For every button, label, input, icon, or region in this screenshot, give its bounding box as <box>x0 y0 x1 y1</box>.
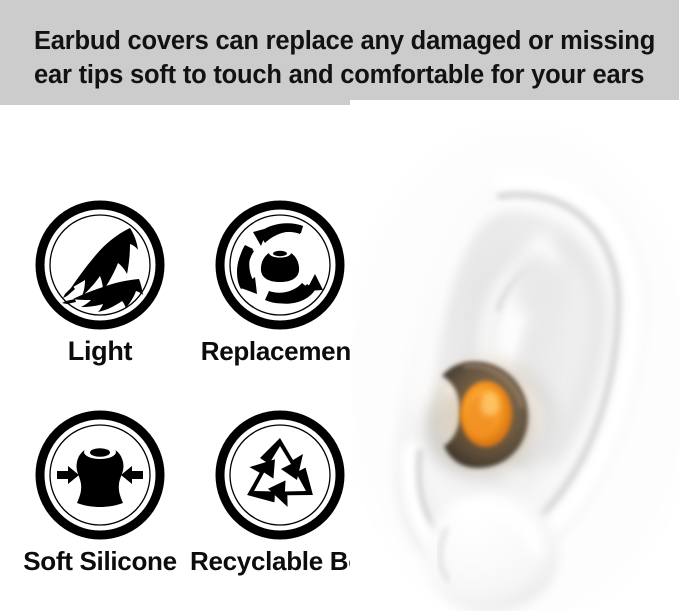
ear-with-earbud-tip <box>350 100 679 611</box>
header-line-1: Earbud covers can replace any damaged or… <box>34 24 649 58</box>
replacement-cycle-icon <box>215 200 345 330</box>
feature-item-soft-silicone: Soft Silicone <box>10 410 190 577</box>
compress-eartip-icon <box>35 410 165 540</box>
feature-item-recyclable-box: Recyclable Box <box>190 410 370 577</box>
header-text: Earbud covers can replace any damaged or… <box>34 24 649 92</box>
ear-render <box>350 100 679 611</box>
infographic-canvas: Earbud covers can replace any damaged or… <box>0 0 679 611</box>
header-banner: Earbud covers can replace any damaged or… <box>0 0 679 105</box>
feature-grid: Light <box>0 105 380 611</box>
feature-item-light: Light <box>10 200 190 367</box>
feature-label-recyclable-box: Recyclable Box <box>190 546 370 577</box>
recycle-icon <box>215 410 345 540</box>
feature-label-light: Light <box>10 336 190 367</box>
header-line-2: ear tips soft to touch and comfortable f… <box>34 58 649 92</box>
ear-illustration <box>350 100 679 611</box>
feature-label-soft-silicone: Soft Silicone <box>10 546 190 577</box>
feather-icon <box>35 200 165 330</box>
feature-item-replacement: Replacement <box>190 200 370 367</box>
feature-label-replacement: Replacement <box>190 336 370 367</box>
